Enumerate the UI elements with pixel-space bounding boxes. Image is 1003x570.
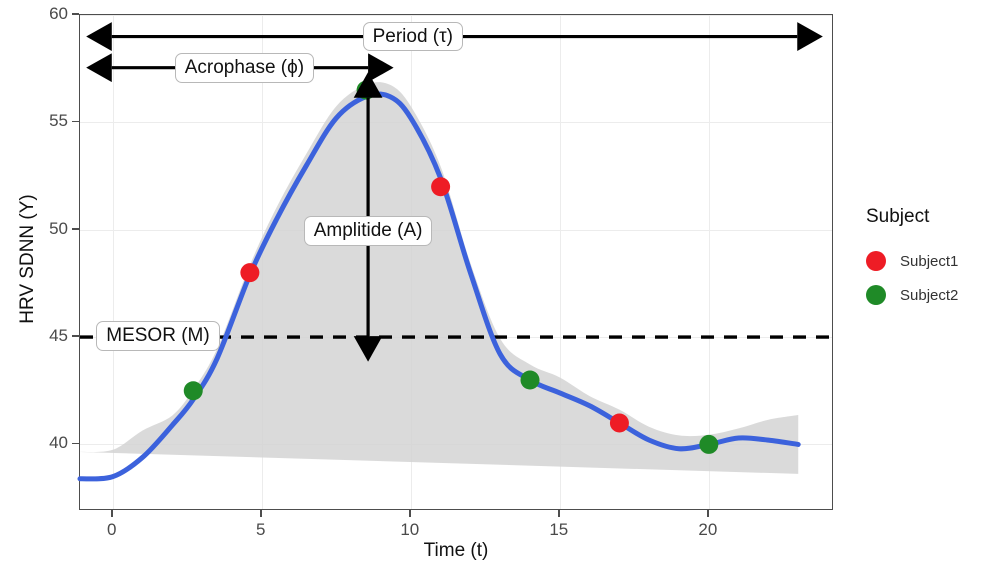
data-point-subject2 (521, 371, 540, 390)
y-tick-mark (72, 121, 79, 123)
legend-item-label: Subject2 (900, 287, 958, 304)
data-point-subject1 (610, 413, 629, 432)
data-point-subject2 (699, 435, 718, 454)
data-point-subject1 (240, 263, 259, 282)
y-tick-mark (72, 13, 79, 15)
x-tick-label: 20 (688, 521, 728, 538)
chart-figure: HRV SDNN (Y) 4045505560 05101520 Time (t… (0, 0, 1003, 570)
legend-key-dot-icon (866, 251, 886, 271)
legend-items: Subject1Subject2 (866, 244, 1001, 312)
annotation-amplitude-label: Amplitide (A) (304, 216, 433, 246)
y-tick-label: 50 (22, 220, 68, 237)
x-tick-mark (409, 510, 411, 517)
legend-title: Subject (866, 206, 1001, 228)
y-tick-label: 60 (22, 5, 68, 22)
x-axis-title: Time (t) (79, 540, 833, 562)
y-tick-label: 40 (22, 434, 68, 451)
y-tick-mark (72, 443, 79, 445)
x-tick-mark (707, 510, 709, 517)
y-tick-label: 55 (22, 112, 68, 129)
data-point-subject2 (184, 381, 203, 400)
x-tick-label: 15 (539, 521, 579, 538)
y-tick-label: 45 (22, 327, 68, 344)
legend: Subject Subject1Subject2 (866, 206, 1001, 312)
annotation-mesor-label: MESOR (M) (96, 321, 219, 351)
y-tick-mark (72, 335, 79, 337)
confidence-band (80, 82, 798, 474)
legend-item-label: Subject1 (900, 253, 958, 270)
x-tick-mark (260, 510, 262, 517)
x-tick-mark (558, 510, 560, 517)
y-tick-mark (72, 228, 79, 230)
x-tick-label: 10 (390, 521, 430, 538)
plot-canvas (80, 15, 834, 511)
legend-key-dot-icon (866, 285, 886, 305)
data-point-subject2 (357, 81, 376, 100)
data-point-subject1 (431, 177, 450, 196)
x-tick-label: 5 (241, 521, 281, 538)
x-tick-mark (111, 510, 113, 517)
x-tick-label: 0 (92, 521, 132, 538)
annotation-period-label: Period (τ) (363, 22, 463, 52)
plot-panel (79, 14, 833, 510)
annotation-acrophase-label: Acrophase (ϕ) (175, 53, 314, 83)
legend-item[interactable]: Subject2 (866, 278, 1001, 312)
legend-item[interactable]: Subject1 (866, 244, 1001, 278)
